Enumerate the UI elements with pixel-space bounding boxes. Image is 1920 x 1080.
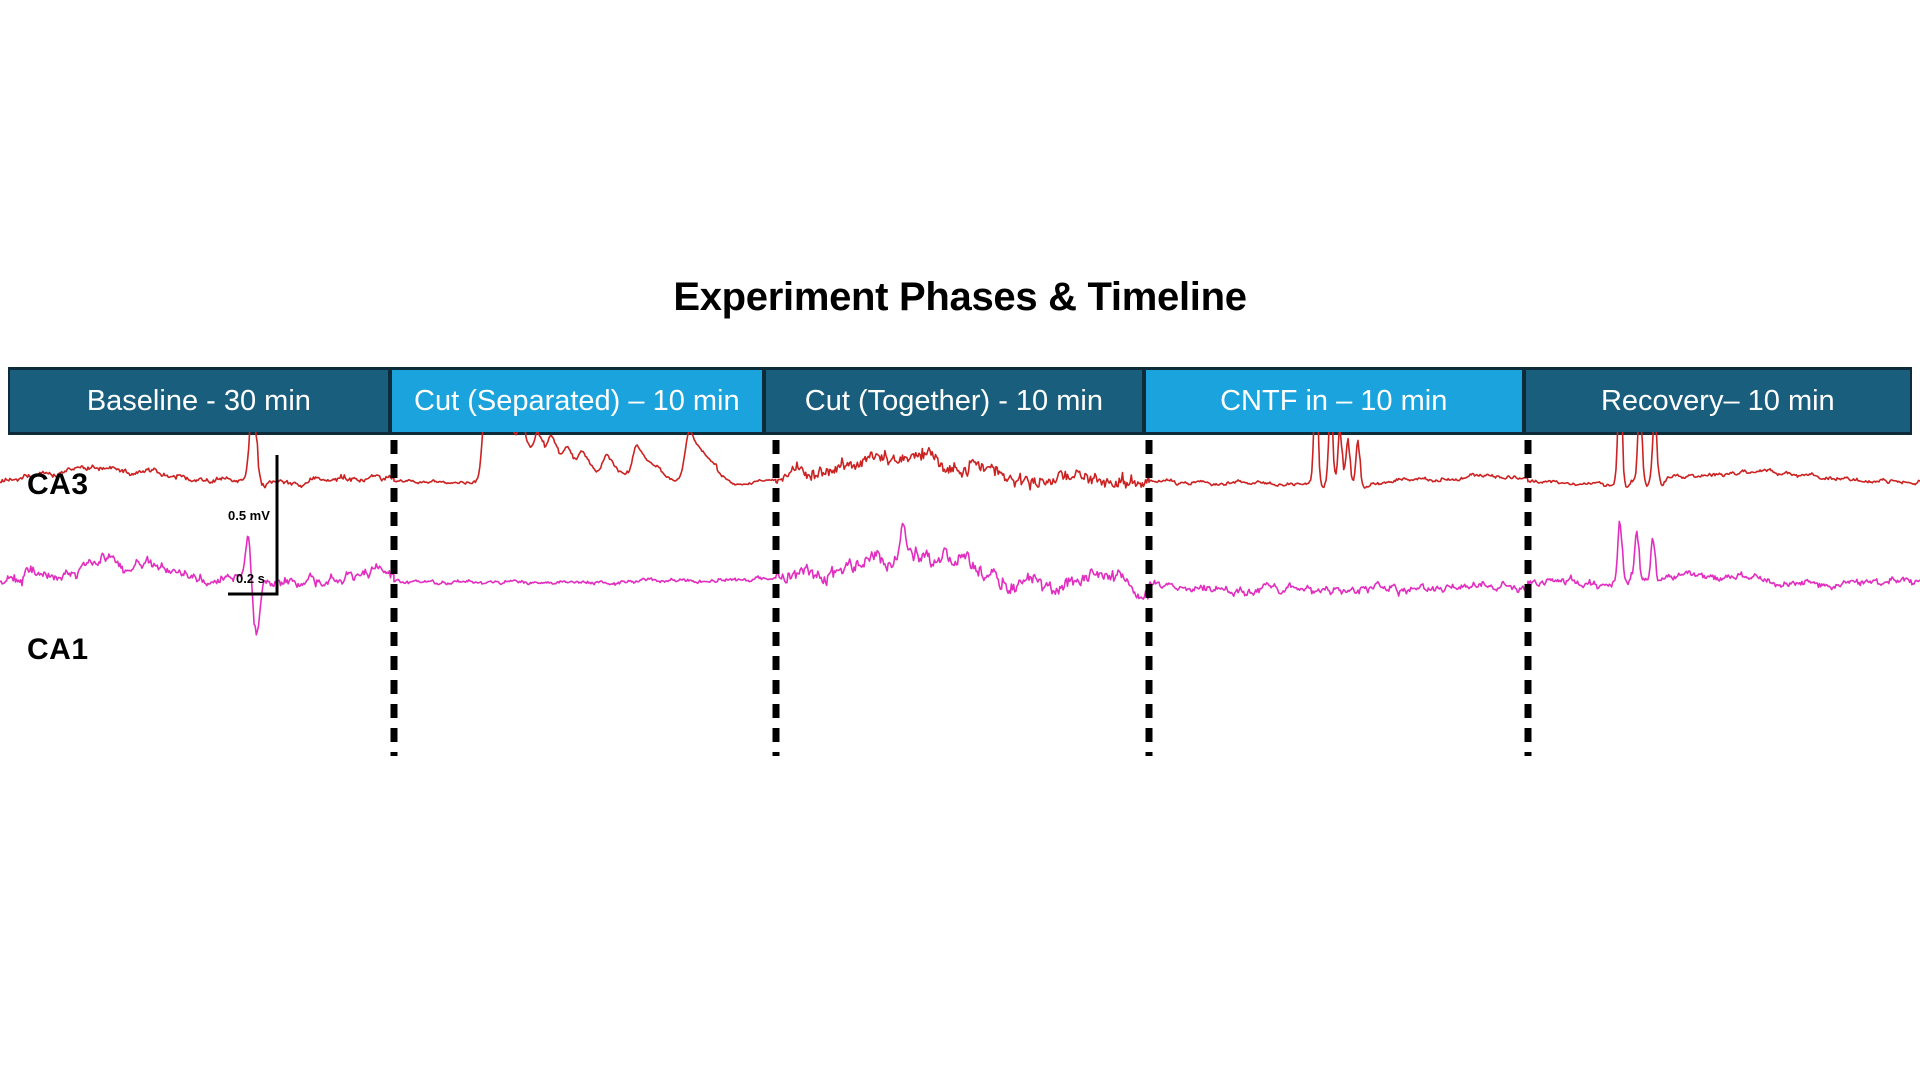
phase-segment-label: Baseline - 30 min [87,385,311,418]
phase-segment-5[interactable]: Recovery– 10 min [1524,370,1912,432]
page-title: Experiment Phases & Timeline [0,275,1920,320]
phase-segment-label: Cut (Separated) – 10 min [414,385,740,418]
trace-plot-area [0,432,1920,772]
trace-ca1 [0,521,1920,634]
electrophysiology-traces [0,432,1920,772]
scale-bar-time-label: 0.2 s [236,571,265,586]
channel-label-ca3: CA3 [27,468,89,502]
channel-label-ca1: CA1 [27,633,89,667]
phase-timeline-banner: Baseline - 30 minCut (Separated) – 10 mi… [8,367,1912,435]
phase-segment-3[interactable]: Cut (Together) - 10 min [764,370,1144,432]
trace-ca3 [0,432,1920,490]
phase-segment-label: CNTF in – 10 min [1220,385,1447,418]
phase-segment-4[interactable]: CNTF in – 10 min [1144,370,1524,432]
figure-root: Experiment Phases & Timeline Baseline - … [0,0,1920,1080]
phase-segment-1[interactable]: Baseline - 30 min [8,370,390,432]
phase-segment-label: Cut (Together) - 10 min [805,385,1103,418]
phase-segment-label: Recovery– 10 min [1601,385,1835,418]
scale-bar-voltage-label: 0.5 mV [228,508,270,523]
phase-segment-2[interactable]: Cut (Separated) – 10 min [390,370,764,432]
